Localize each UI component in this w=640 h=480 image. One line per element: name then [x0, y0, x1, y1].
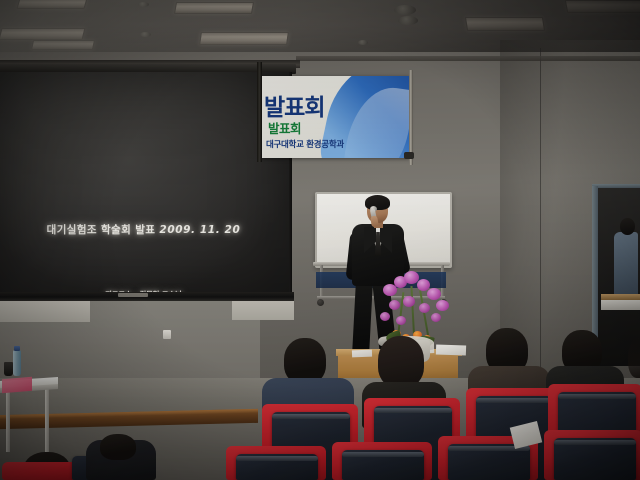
- projector-glow: [0, 72, 291, 294]
- slide-title-date: 2009. 11. 20: [159, 224, 240, 236]
- presenter-hair: [365, 195, 390, 210]
- orchid-bloom: [427, 288, 441, 300]
- person-head: [620, 218, 635, 235]
- orchid-bloom: [436, 300, 449, 311]
- audience-head: [628, 338, 640, 378]
- orchid-bloom: [380, 312, 390, 321]
- orchid-bloom: [389, 300, 400, 310]
- slide-title: 대기실험조 학술회 발표 2009. 11. 20: [0, 222, 289, 237]
- bottle-cap: [14, 346, 20, 351]
- wall-corner: [540, 48, 541, 378]
- screen-bar-clip: [118, 293, 148, 297]
- water-bottle: [13, 350, 21, 376]
- doorway-ledge: [601, 300, 640, 310]
- banner-subhead: 발표회: [268, 118, 301, 137]
- seat-top-bar: [236, 456, 318, 461]
- banner-support-rod: [409, 70, 413, 165]
- seat-top-bar: [374, 408, 452, 413]
- presentation-photo: 대기실험조 학술회 발표 2009. 11. 20 지도교수 : 김문현 교수님…: [0, 0, 640, 480]
- event-banner: 발표회 발표회 대구대학교 환경공학과: [262, 76, 410, 158]
- orchid-bloom: [403, 296, 415, 307]
- paper-sheet: [352, 350, 372, 358]
- seat-top-bar: [554, 440, 636, 445]
- banner-pole: [257, 62, 262, 162]
- ceiling-edge-beam: [296, 56, 640, 61]
- seat-top-bar: [272, 414, 350, 419]
- side-table-leg: [45, 389, 49, 457]
- orchid-bloom: [431, 313, 441, 322]
- seat-top-bar: [558, 394, 636, 399]
- banner-headline: 발표회: [264, 88, 324, 122]
- orchid-bloom: [396, 316, 406, 325]
- side-table-leg: [6, 390, 10, 452]
- pink-folder: [2, 377, 32, 394]
- slide-title-text: 대기실험조 학술회 발표: [47, 224, 156, 236]
- banner-hook: [404, 152, 414, 159]
- wall-outlet: [163, 330, 171, 339]
- audience-head: [100, 434, 136, 460]
- audience-head: [378, 336, 424, 388]
- seat-top-bar: [342, 452, 424, 457]
- person-in-doorway: [614, 232, 638, 298]
- cup: [4, 362, 13, 376]
- orchid-bloom: [419, 303, 430, 313]
- projection-screen: 대기실험조 학술회 발표 2009. 11. 20 지도교수 : 김문현 교수님…: [0, 72, 291, 294]
- seat-top-bar: [476, 398, 552, 403]
- whiteboard-caster: [317, 299, 324, 306]
- banner-org-line: 대구대학교 환경공학과: [266, 138, 344, 150]
- paper-sheet: [436, 344, 466, 355]
